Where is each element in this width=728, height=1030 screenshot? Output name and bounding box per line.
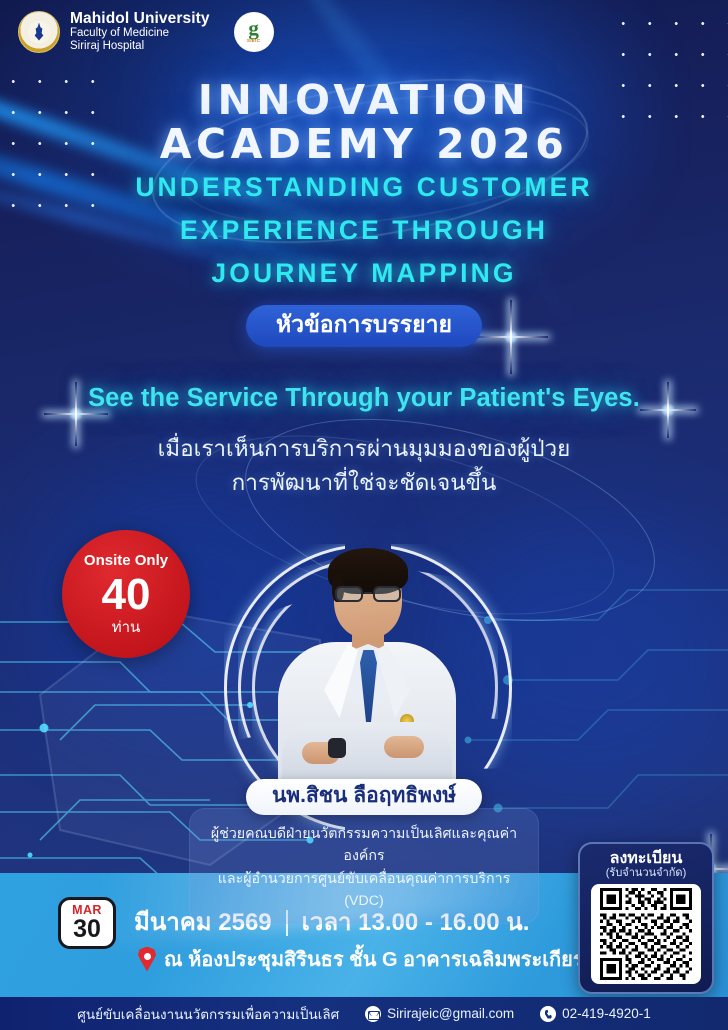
subtitle: UNDERSTANDING CUSTOMER EXPERIENCE THROUG… [0,166,728,295]
registration-subtitle: (รับจำนวนจำกัด) [588,867,704,880]
event-poster: Mahidol University Faculty of Medicine S… [0,0,728,1030]
footer-phone-text: 02-419-4920-1 [562,1006,651,1021]
topic-pill: หัวข้อการบรรยาย [246,305,482,347]
speaker-role-line-2: และผู้อำนวยการศูนย์ขับเคลื่อนคุณค่าการบร… [200,868,528,913]
title-line-2: ACADEMY 2026 [0,122,728,166]
speaker-photo [272,546,462,804]
sparkle-icon [474,300,548,374]
tagline-thai-line-2: การพัฒนาที่ใช่จะชัดเจนขึ้น [0,466,728,500]
speaker-role-line-1: ผู้ช่วยคณบดีฝ่ายนวัตกรรมความเป็นเลิศและค… [200,823,528,868]
footer-email-text: Sirirajeic@gmail.com [387,1006,514,1021]
speaker-role: ผู้ช่วยคณบดีฝ่ายนวัตกรรมความเป็นเลิศและค… [189,808,539,924]
footer-email[interactable]: Sirirajeic@gmail.com [365,1006,514,1022]
sieic-logo-icon: g SiEIC [234,12,274,52]
seats-badge-top: Onsite Only [84,553,168,568]
sieic-logo-label: SiEIC [247,38,261,43]
main-title: INNOVATION ACADEMY 2026 [0,78,728,167]
tagline-thai: เมื่อเราเห็นการบริการผ่านมุมมองของผู้ป่ว… [0,432,728,500]
registration-title: ลงทะเบียน [588,850,704,867]
phone-icon [540,1006,556,1022]
event-location: ณ ห้องประชุมสิรินธร ชั้น G อาคารเฉลิมพระ… [164,943,597,975]
hospital-name: Siriraj Hospital [70,40,210,53]
seats-badge: Onsite Only 40 ท่าน [62,530,190,658]
qr-code-icon[interactable] [591,884,701,984]
calendar-icon: MAR 30 [58,897,116,949]
subtitle-line-2: EXPERIENCE THROUGH [0,209,728,252]
title-line-1: INNOVATION [0,78,728,122]
map-pin-icon [138,947,156,972]
subtitle-line-3: JOURNEY MAPPING [0,252,728,295]
registration-panel[interactable]: ลงทะเบียน (รับจำนวนจำกัด) [578,842,714,994]
tagline-english: See the Service Through your Patient's E… [0,384,728,413]
subtitle-line-1: UNDERSTANDING CUSTOMER [0,166,728,209]
seats-badge-unit: ท่าน [112,620,141,635]
footer-phone[interactable]: 02-419-4920-1 [540,1006,651,1022]
speaker-name: นพ.สิชน ลือฤทธิพงษ์ [246,779,482,815]
faculty-name: Faculty of Medicine [70,27,210,40]
seats-badge-number: 40 [102,570,151,619]
eyeglasses-icon [334,586,402,602]
event-location-row: ณ ห้องประชุมสิรินธร ชั้น G อาคารเฉลิมพระ… [138,943,597,975]
mahidol-seal-icon [18,11,60,53]
poster-footer: ศูนย์ขับเคลื่อนงานนวัตกรรมเพื่อความเป็นเ… [0,997,728,1030]
institution-name: Mahidol University Faculty of Medicine S… [70,10,210,53]
poster-header: Mahidol University Faculty of Medicine S… [18,10,274,53]
mail-icon [365,1006,381,1022]
tagline-thai-line-1: เมื่อเราเห็นการบริการผ่านมุมมองของผู้ป่ว… [0,432,728,466]
university-name: Mahidol University [70,10,210,27]
footer-org: ศูนย์ขับเคลื่อนงานนวัตกรรมเพื่อความเป็นเ… [77,1003,339,1025]
sieic-logo-glyph: g [248,20,259,38]
calendar-day: 30 [73,917,101,942]
